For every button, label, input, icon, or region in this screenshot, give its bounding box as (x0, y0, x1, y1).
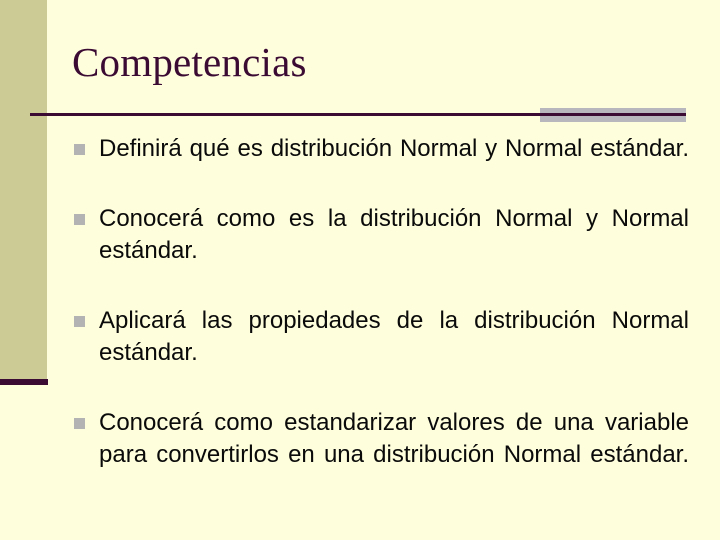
title-divider-rule (30, 113, 686, 116)
list-item: Aplicará las propiedades de la distribuc… (74, 305, 689, 401)
list-item: Definirá qué es distribución Normal y No… (74, 133, 689, 197)
list-item-text: Conocerá como es la distribución Normal … (99, 203, 689, 299)
list-item-text: Aplicará las propiedades de la distribuc… (99, 305, 689, 401)
list-item-text: Conocerá como estandarizar valores de un… (99, 407, 689, 503)
bullet-list: Definirá qué es distribución Normal y No… (74, 133, 689, 509)
square-bullet-icon (74, 214, 85, 225)
slide-title: Competencias (72, 38, 307, 86)
slide-canvas: Competencias Definirá qué es distribució… (0, 0, 720, 540)
square-bullet-icon (74, 316, 85, 327)
list-item: Conocerá como estandarizar valores de un… (74, 407, 689, 503)
list-item: Conocerá como es la distribución Normal … (74, 203, 689, 299)
list-item-text: Definirá qué es distribución Normal y No… (99, 133, 689, 197)
left-decorative-band (0, 0, 47, 379)
square-bullet-icon (74, 418, 85, 429)
square-bullet-icon (74, 144, 85, 155)
left-accent-stub (0, 379, 48, 385)
